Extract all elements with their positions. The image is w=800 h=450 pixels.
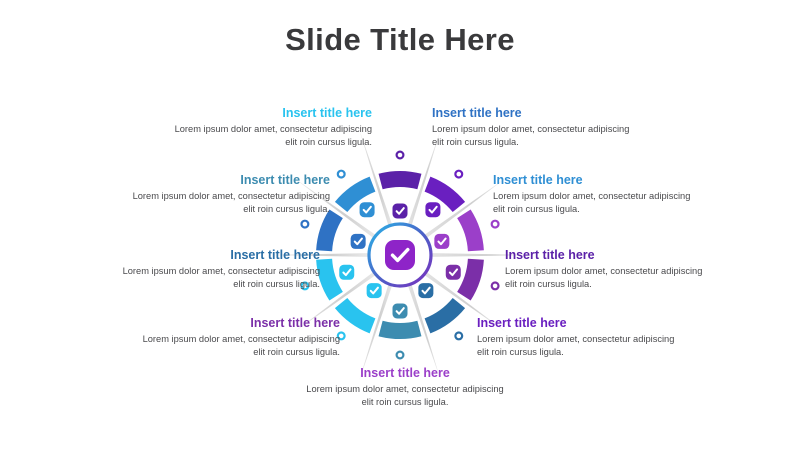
check-badge-icon[interactable] — [434, 234, 449, 249]
callout-left-upper[interactable]: Insert title here Lorem ipsum dolor amet… — [130, 173, 330, 216]
callout-title: Insert title here — [172, 106, 372, 120]
check-badge-icon[interactable] — [425, 202, 440, 217]
ring-marker-icon — [397, 352, 404, 359]
check-badge-icon[interactable] — [351, 234, 366, 249]
callout-title: Insert title here — [432, 106, 632, 120]
ring-marker-icon — [492, 221, 499, 228]
callout-title: Insert title here — [493, 173, 693, 187]
radial-wheel-diagram: Insert title here Lorem ipsum dolor amet… — [0, 0, 800, 450]
arc-segment[interactable] — [316, 259, 343, 301]
ring-marker-icon — [301, 221, 308, 228]
arc-segment[interactable] — [457, 259, 484, 301]
ring-marker-icon — [397, 152, 404, 159]
arc-segment[interactable] — [379, 171, 422, 189]
arc-segment[interactable] — [335, 298, 376, 333]
callout-right-lower[interactable]: Insert title here Lorem ipsum dolor amet… — [505, 248, 705, 291]
ring-marker-icon — [338, 171, 345, 178]
check-badge-icon[interactable] — [393, 304, 408, 319]
arc-segment[interactable] — [457, 209, 484, 251]
callout-body: Lorem ipsum dolor amet, consectetur adip… — [477, 333, 677, 359]
check-badge-icon[interactable] — [418, 283, 433, 298]
callout-body: Lorem ipsum dolor amet, consectetur adip… — [505, 265, 705, 291]
check-badge-icon[interactable] — [367, 283, 382, 298]
center-hub[interactable] — [368, 223, 432, 287]
ring-marker-icon — [455, 171, 462, 178]
callout-bottom-left[interactable]: Insert title here Lorem ipsum dolor amet… — [140, 316, 340, 359]
callout-body: Lorem ipsum dolor amet, consectetur adip… — [130, 190, 330, 216]
callout-top-right[interactable]: Insert title here Lorem ipsum dolor amet… — [432, 106, 632, 149]
callout-body: Lorem ipsum dolor amet, consectetur adip… — [493, 190, 693, 216]
callout-title: Insert title here — [140, 316, 340, 330]
callout-title: Insert title here — [120, 248, 320, 262]
callout-body: Lorem ipsum dolor amet, consectetur adip… — [120, 265, 320, 291]
callout-bottom-center[interactable]: Insert title here Lorem ipsum dolor amet… — [305, 366, 505, 409]
callout-body: Lorem ipsum dolor amet, consectetur adip… — [432, 123, 632, 149]
arc-segment[interactable] — [425, 298, 466, 333]
callout-body: Lorem ipsum dolor amet, consectetur adip… — [305, 383, 505, 409]
center-check-badge-icon — [385, 240, 415, 270]
callout-title: Insert title here — [130, 173, 330, 187]
callout-left-lower[interactable]: Insert title here Lorem ipsum dolor amet… — [120, 248, 320, 291]
check-badge-icon[interactable] — [339, 265, 354, 280]
callout-title: Insert title here — [305, 366, 505, 380]
callout-body: Lorem ipsum dolor amet, consectetur adip… — [172, 123, 372, 149]
callout-right-upper[interactable]: Insert title here Lorem ipsum dolor amet… — [493, 173, 693, 216]
callout-title: Insert title here — [505, 248, 705, 262]
callout-top-left[interactable]: Insert title here Lorem ipsum dolor amet… — [172, 106, 372, 149]
check-badge-icon[interactable] — [393, 204, 408, 219]
ring-marker-icon — [455, 333, 462, 340]
callout-body: Lorem ipsum dolor amet, consectetur adip… — [140, 333, 340, 359]
ring-marker-icon — [492, 283, 499, 290]
check-badge-icon[interactable] — [446, 265, 461, 280]
slide-canvas: Slide Title Here — [0, 0, 800, 450]
arc-segment[interactable] — [379, 321, 422, 339]
callout-bottom-right[interactable]: Insert title here Lorem ipsum dolor amet… — [477, 316, 677, 359]
check-badge-icon[interactable] — [360, 202, 375, 217]
callout-title: Insert title here — [477, 316, 677, 330]
